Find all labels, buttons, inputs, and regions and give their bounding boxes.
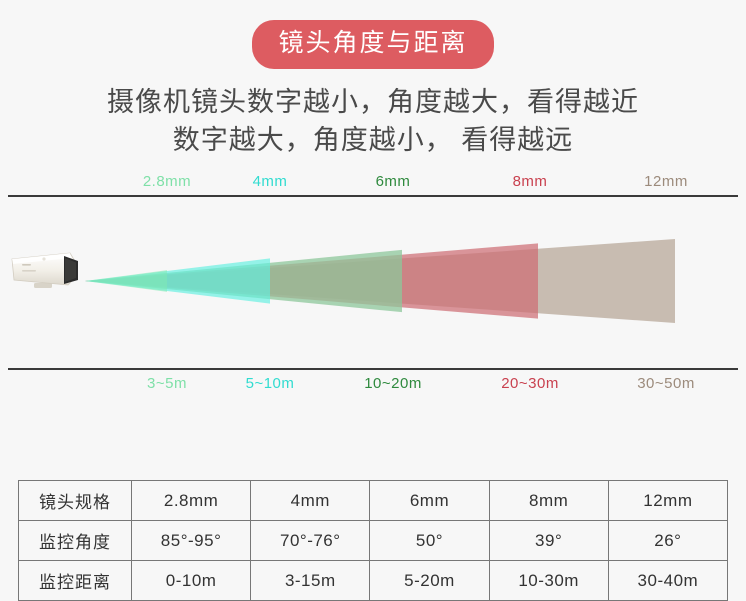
spec-table-wrapper: 镜头规格2.8mm4mm6mm8mm12mm监控角度85°-95°70°-76°… xyxy=(18,480,728,601)
distance-label-6mm: 10~20m xyxy=(364,375,422,392)
table-cell: 10-30m xyxy=(489,561,608,601)
table-cell: 30-40m xyxy=(608,561,727,601)
table-row-header: 监控角度 xyxy=(19,521,132,561)
distance-label-2-8mm: 3~5m xyxy=(147,375,187,392)
table-row: 监控角度85°-95°70°-76°50°39°26° xyxy=(19,521,728,561)
table-cell: 70°-76° xyxy=(251,521,370,561)
bullet-camera-icon xyxy=(8,247,88,293)
table-cell: 2.8mm xyxy=(132,481,251,521)
subtitle-block: 摄像机镜头数字越小，角度越大，看得越近 数字越大，角度越小， 看得越远 xyxy=(0,83,746,159)
distance-label-8mm: 20~30m xyxy=(501,375,559,392)
distance-label-12mm: 30~50m xyxy=(637,375,695,392)
table-row: 监控距离0-10m3-15m5-20m10-30m30-40m xyxy=(19,561,728,601)
table-row-header: 监控距离 xyxy=(19,561,132,601)
title-section: 镜头角度与距离 xyxy=(0,0,746,69)
subtitle-line-1: 摄像机镜头数字越小，角度越大，看得越近 xyxy=(0,83,746,121)
table-cell: 8mm xyxy=(489,481,608,521)
lens-spec-table: 镜头规格2.8mm4mm6mm8mm12mm监控角度85°-95°70°-76°… xyxy=(18,480,728,601)
lens-label-6mm: 6mm xyxy=(376,173,411,190)
table-cell: 85°-95° xyxy=(132,521,251,561)
subtitle-line-2: 数字越大，角度越小， 看得越远 xyxy=(0,121,746,159)
table-cell: 4mm xyxy=(251,481,370,521)
lens-label-2-8mm: 2.8mm xyxy=(143,173,191,190)
table-row: 镜头规格2.8mm4mm6mm8mm12mm xyxy=(19,481,728,521)
beam-wedge-2-8mm xyxy=(85,270,167,292)
lens-coverage-diagram: 2.8mm4mm6mm8mm12mm 3~5m5~10m10~20m20~30m… xyxy=(0,167,746,412)
lens-label-4mm: 4mm xyxy=(253,173,288,190)
table-cell: 26° xyxy=(608,521,727,561)
table-cell: 0-10m xyxy=(132,561,251,601)
table-cell: 39° xyxy=(489,521,608,561)
table-cell: 12mm xyxy=(608,481,727,521)
table-cell: 50° xyxy=(370,521,489,561)
lens-label-12mm: 12mm xyxy=(644,173,688,190)
distance-label-4mm: 5~10m xyxy=(246,375,295,392)
page-title-badge: 镜头角度与距离 xyxy=(252,20,493,69)
lens-label-8mm: 8mm xyxy=(513,173,548,190)
table-cell: 3-15m xyxy=(251,561,370,601)
table-cell: 6mm xyxy=(370,481,489,521)
table-row-header: 镜头规格 xyxy=(19,481,132,521)
table-cell: 5-20m xyxy=(370,561,489,601)
